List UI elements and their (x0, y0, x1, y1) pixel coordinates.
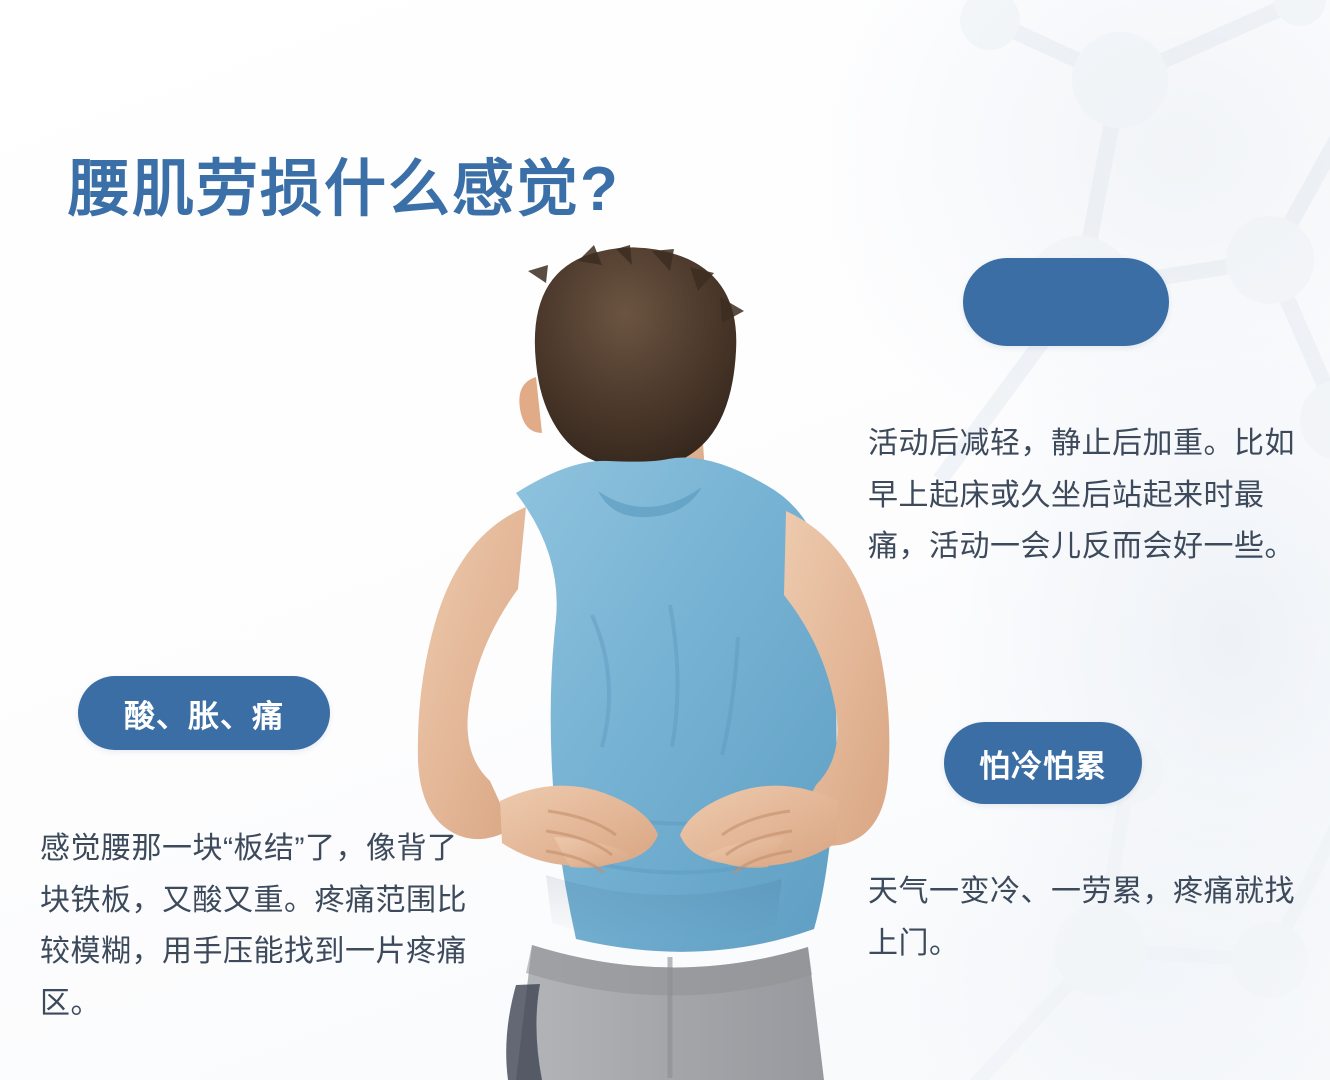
badge-time-pattern[interactable]: 时轻时重 (963, 258, 1169, 346)
badge-time-pattern-label: 时轻时重 (1000, 280, 1132, 325)
badge-ache-swell-pain-label: 酸、胀、痛 (124, 691, 284, 736)
poster-canvas: 腰肌劳损什么感觉? (0, 0, 1330, 1080)
page-title: 腰肌劳损什么感觉? (68, 156, 620, 224)
paragraph-ache-swell-pain: 感觉腰那一块“板结”了，像背了块铁板，又酸又重。疼痛范围比较模糊，用手压能找到一… (40, 823, 470, 1029)
badge-cold-tired[interactable]: 怕冷怕累 (944, 722, 1142, 804)
badge-ache-swell-pain[interactable]: 酸、胀、痛 (78, 676, 330, 750)
paragraph-cold-tired: 天气一变冷、一劳累，疼痛就找上门。 (868, 866, 1300, 969)
paragraph-time-pattern: 活动后减轻，静止后加重。比如早上起床或久坐后站起来时最痛，活动一会儿反而会好一些… (868, 418, 1300, 573)
badge-cold-tired-label: 怕冷怕累 (979, 741, 1107, 786)
